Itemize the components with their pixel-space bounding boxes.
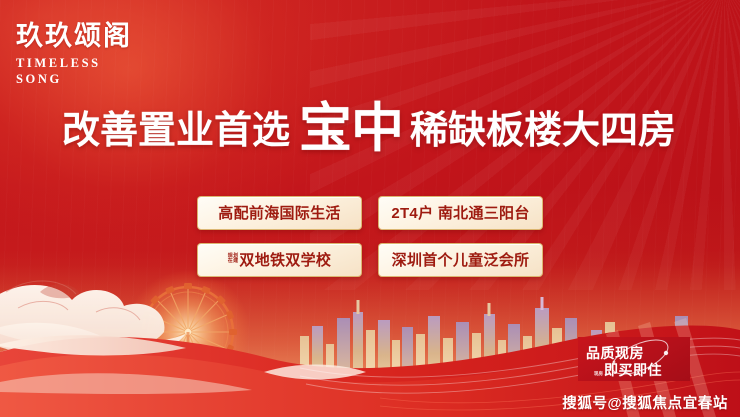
badge-line-2-text: 即买即住	[604, 363, 662, 377]
feature-tag-list: 高配前海国际生活 2T4户 南北通三阳台 规划 在建 双地铁双学校 深圳首个儿童…	[197, 196, 543, 277]
logo-english-name: TIMELESS SONG	[16, 55, 191, 88]
brand-logo: 玖玖颂阁 TIMELESS SONG	[16, 22, 191, 88]
feature-tag-label: 2T4户 南北通三阳台	[391, 206, 529, 221]
feature-tag-label-wrapper: 规划 在建 双地铁双学校	[228, 253, 331, 268]
feature-tag[interactable]: 2T4户 南北通三阳台	[378, 196, 543, 230]
headline-suffix: 稀缺板楼大四房	[410, 112, 676, 150]
feature-tag-prefix-bottom: 在建	[228, 259, 239, 264]
logo-chinese-name: 玖玖颂阁	[16, 22, 191, 50]
feature-tag[interactable]: 高配前海国际生活	[197, 196, 362, 230]
logo-english-line-1: TIMELESS	[16, 55, 191, 71]
badge-tiny-prefix: 现房	[594, 372, 603, 377]
headline-prefix: 改善置业首选	[62, 112, 290, 150]
quality-badge: 品质现房 现房 即买即住	[578, 337, 690, 381]
feature-tag-label: 双地铁双学校	[239, 253, 331, 268]
feature-tag[interactable]: 深圳首个儿童泛会所	[378, 243, 543, 277]
feature-tag[interactable]: 规划 在建 双地铁双学校	[197, 243, 362, 277]
headline: 改善置业首选 宝中 稀缺板楼大四房	[62, 99, 676, 152]
feature-tag-label: 深圳首个儿童泛会所	[392, 253, 530, 268]
badge-line-2: 现房 即买即住	[594, 363, 662, 377]
feature-tag-prefix: 规划 在建	[228, 254, 239, 265]
poster-canvas: 玖玖颂阁 TIMELESS SONG 改善置业首选 宝中 稀缺板楼大四房 高配前…	[0, 0, 740, 417]
feature-tag-label: 高配前海国际生活	[218, 206, 340, 221]
logo-english-line-2: SONG	[16, 71, 191, 87]
source-watermark: 搜狐号@搜狐焦点宜春站	[562, 397, 728, 412]
headline-emphasis: 宝中	[290, 102, 410, 155]
badge-line-1: 品质现房	[586, 346, 644, 360]
